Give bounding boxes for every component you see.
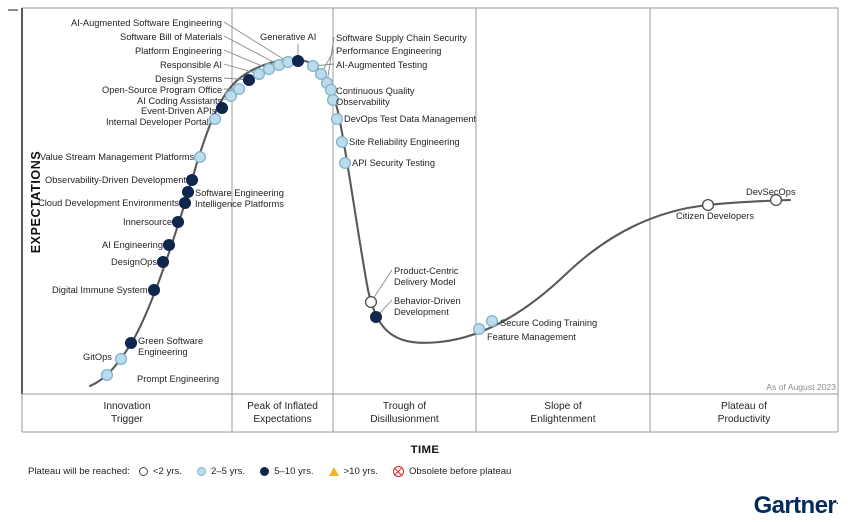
dark-navy-circle-icon[interactable]	[183, 187, 194, 198]
point-label: AI-Augmented Software Engineering	[71, 18, 222, 29]
point-label: Digital Immune System	[52, 285, 148, 296]
gartner-logo: Gartner.	[754, 492, 838, 520]
point-label: Citizen Developers	[676, 211, 754, 222]
dark-navy-circle-icon[interactable]	[244, 75, 255, 86]
point-label: AI Engineering	[102, 240, 163, 251]
light-blue-circle-icon[interactable]	[283, 57, 294, 68]
phase-label-line2: Trigger	[22, 414, 232, 427]
hollow-circle-icon[interactable]	[703, 200, 714, 211]
point-label: Open-Source Program Office	[102, 85, 222, 96]
point-label: Design Systems	[155, 74, 222, 85]
yellow-triangle-icon	[329, 467, 339, 476]
point-label: API Security Testing	[352, 158, 435, 169]
dark-navy-circle-icon[interactable]	[180, 198, 191, 209]
phase-label-0: InnovationTrigger	[22, 401, 232, 426]
phase-label-line2: Productivity	[650, 414, 838, 427]
dark-navy-circle-icon[interactable]	[126, 338, 137, 349]
point-label: AI Coding Assistants	[137, 96, 222, 107]
light-blue-circle-icon	[197, 467, 206, 476]
point-label: Software Supply Chain Security	[336, 33, 467, 44]
phase-label-2: Trough ofDisillusionment	[333, 401, 476, 426]
hollow-circle-icon	[139, 467, 148, 476]
point-label: Value Stream Management Platforms	[40, 152, 194, 163]
point-label: Observability	[336, 97, 390, 108]
point-label: Generative AI	[260, 32, 316, 43]
phase-label-line1: Plateau of	[650, 401, 838, 414]
point-label: Prompt Engineering	[137, 374, 219, 385]
obsolete-cross-icon	[393, 466, 404, 477]
light-blue-circle-icon[interactable]	[474, 324, 485, 335]
light-blue-circle-icon[interactable]	[234, 84, 245, 95]
light-blue-circle-icon[interactable]	[264, 64, 275, 75]
dark-navy-circle-icon[interactable]	[187, 175, 198, 186]
dark-navy-circle-icon[interactable]	[293, 56, 304, 67]
x-axis-label: TIME	[0, 444, 850, 456]
dark-navy-circle-icon[interactable]	[158, 257, 169, 268]
light-blue-circle-icon[interactable]	[254, 69, 265, 80]
dark-navy-circle-icon	[260, 467, 269, 476]
point-label: Continuous Quality	[336, 86, 415, 97]
light-blue-circle-icon[interactable]	[332, 114, 343, 125]
phase-label-line2: Enlightenment	[476, 414, 650, 427]
light-blue-circle-icon[interactable]	[337, 137, 348, 148]
gartner-registered-mark: .	[836, 496, 838, 506]
gartner-wordmark: Gartner	[754, 492, 837, 519]
phase-label-line2: Disillusionment	[333, 414, 476, 427]
point-label: Site Reliability Engineering	[349, 137, 460, 148]
maturity-legend: Plateau will be reached: <2 yrs.2–5 yrs.…	[28, 466, 526, 477]
legend-item-label: Obsolete before plateau	[409, 466, 511, 477]
point-label: Platform Engineering	[135, 46, 222, 57]
light-blue-circle-icon[interactable]	[116, 354, 127, 365]
point-label: Cloud Development Environments	[38, 198, 179, 209]
legend-item-0: <2 yrs.	[139, 466, 182, 477]
point-label: Behavior-Driven Development	[394, 296, 490, 318]
phase-label-3: Slope ofEnlightenment	[476, 401, 650, 426]
legend-item-2: 5–10 yrs.	[260, 466, 313, 477]
legend-item-label: <2 yrs.	[153, 466, 182, 477]
point-label: Innersource	[123, 217, 172, 228]
dark-navy-circle-icon[interactable]	[371, 312, 382, 323]
legend-item-label: >10 yrs.	[344, 466, 378, 477]
legend-item-label: 2–5 yrs.	[211, 466, 245, 477]
legend-item-1: 2–5 yrs.	[197, 466, 245, 477]
phase-label-line2: Expectations	[232, 414, 333, 427]
light-blue-circle-icon[interactable]	[102, 370, 113, 381]
phase-label-line1: Trough of	[333, 401, 476, 414]
light-blue-circle-icon[interactable]	[195, 152, 206, 163]
hollow-circle-icon[interactable]	[366, 297, 377, 308]
phase-label-4: Plateau ofProductivity	[650, 401, 838, 426]
point-label: DevSecOps	[746, 187, 796, 198]
legend-lead-text: Plateau will be reached:	[28, 466, 130, 477]
phase-label-line1: Peak of Inflated	[232, 401, 333, 414]
point-label: Software Bill of Materials	[120, 32, 222, 43]
point-label: GitOps	[83, 352, 112, 363]
point-label: Green Software Engineering	[138, 336, 234, 358]
phase-label-line1: Slope of	[476, 401, 650, 414]
as-of-date: As of August 2023	[766, 382, 836, 392]
phase-label-1: Peak of InflatedExpectations	[232, 401, 333, 426]
point-label: Event-Driven APIs	[141, 106, 216, 117]
light-blue-circle-icon[interactable]	[340, 158, 351, 169]
point-label: Performance Engineering	[336, 46, 441, 57]
light-blue-circle-icon[interactable]	[326, 85, 337, 96]
phase-label-line1: Innovation	[22, 401, 232, 414]
point-label: DesignOps	[111, 257, 157, 268]
hype-cycle-chart: EXPECTATIONS Prompt EngineeringGitOpsGre…	[0, 0, 850, 522]
point-label: AI-Augmented Testing	[336, 60, 427, 71]
dark-navy-circle-icon[interactable]	[173, 217, 184, 228]
dark-navy-circle-icon[interactable]	[149, 285, 160, 296]
point-label: Software Engineering Intelligence Platfo…	[195, 188, 291, 210]
point-label: Feature Management	[487, 332, 576, 343]
legend-item-4: Obsolete before plateau	[393, 466, 511, 477]
point-label: DevOps Test Data Management	[344, 114, 476, 125]
legend-item-label: 5–10 yrs.	[274, 466, 313, 477]
point-label: Responsible AI	[160, 60, 222, 71]
point-label: Internal Developer Portal	[106, 117, 209, 128]
point-label: Product-Centric Delivery Model	[394, 266, 490, 288]
point-label: Secure Coding Training	[500, 318, 597, 329]
point-label: Observability-Driven Development	[45, 175, 186, 186]
dark-navy-circle-icon[interactable]	[164, 240, 175, 251]
legend-item-3: >10 yrs.	[329, 466, 378, 477]
